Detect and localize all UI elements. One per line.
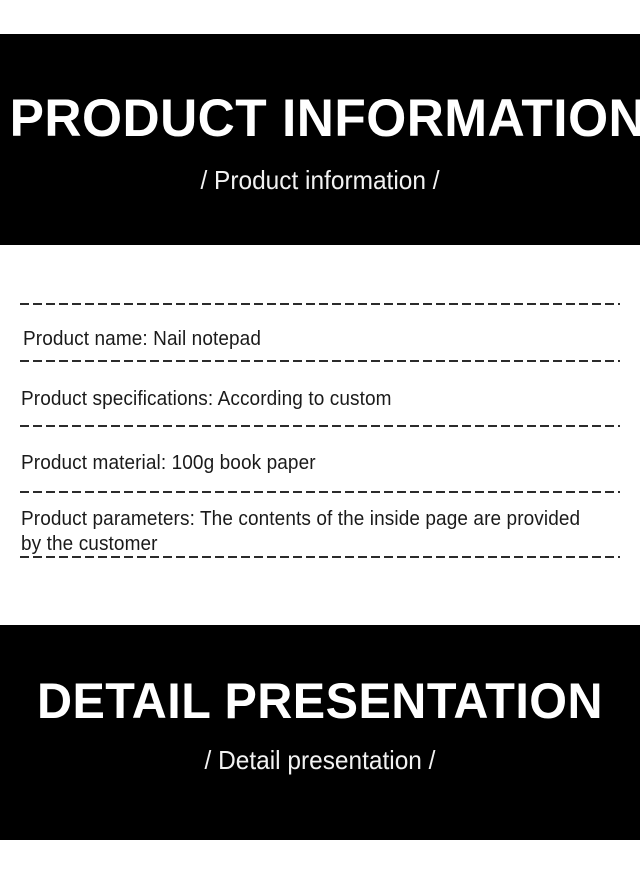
spec-divider-3 (20, 491, 620, 493)
spec-row-product-name: Product name: Nail notepad (23, 327, 584, 352)
spec-divider-1 (20, 360, 620, 362)
spec-row-product-material: Product material: 100g book paper (21, 451, 582, 476)
product-information-banner: PRODUCT INFORMATION / Product informatio… (0, 34, 640, 245)
product-detail-page: PRODUCT INFORMATION / Product informatio… (0, 0, 640, 880)
detail-presentation-subtitle: / Detail presentation / (19, 747, 621, 773)
detail-presentation-title: DETAIL PRESENTATION (10, 676, 631, 726)
spec-row-product-specifications: Product specifications: According to cus… (21, 387, 582, 412)
spec-divider-bottom (20, 556, 620, 558)
product-information-subtitle: / Product information / (19, 167, 621, 193)
specification-block: Product name: Nail notepad Product speci… (0, 245, 640, 625)
product-information-title: PRODUCT INFORMATION (10, 92, 631, 145)
detail-presentation-banner: DETAIL PRESENTATION / Detail presentatio… (0, 625, 640, 840)
spec-divider-top (20, 303, 620, 305)
spec-row-product-parameters: Product parameters: The contents of the … (21, 507, 591, 557)
spec-divider-2 (20, 425, 620, 427)
